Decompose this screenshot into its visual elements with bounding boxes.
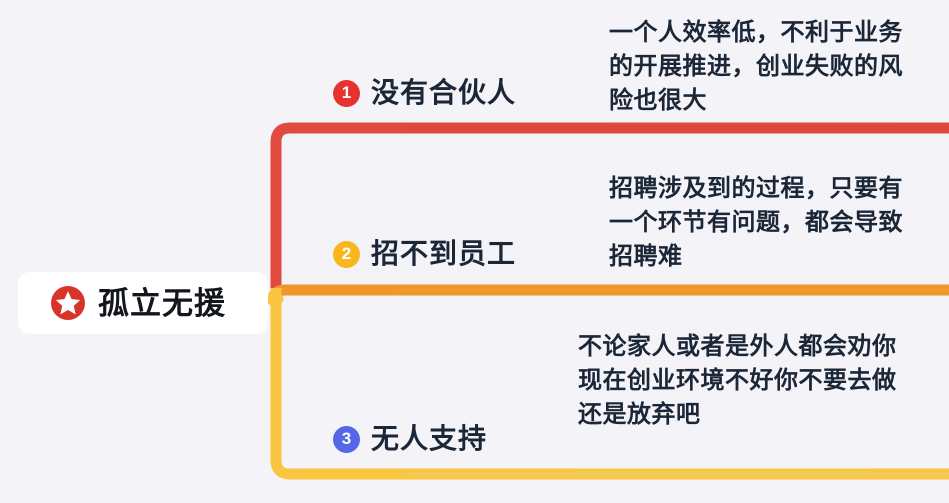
branch-title-3: 无人支持 (371, 425, 487, 453)
branch-title-1: 没有合伙人 (371, 79, 516, 107)
root-label: 孤立无援 (98, 288, 226, 319)
branch-title-2: 招不到员工 (371, 240, 516, 268)
leaf-rule-1 (607, 125, 895, 127)
branch-number-badge-2: 2 (333, 241, 360, 268)
branch-node-3[interactable]: 3 无人支持 (333, 425, 487, 453)
root-node[interactable]: 孤立无援 (18, 272, 268, 334)
leaf-rule-3 (576, 471, 871, 473)
mindmap-canvas: 孤立无援 1 没有合伙人 一个人效率低，不利于业务的开展推进，创业失败的风险也很… (0, 0, 949, 503)
leaf-text-3: 不论家人或者是外人都会劝你现在创业环境不好你不要去做还是放弃吧 (578, 330, 908, 432)
branch-number-badge-1: 1 (333, 80, 360, 107)
leaf-text-1: 一个人效率低，不利于业务的开展推进，创业失败的风险也很大 (609, 16, 909, 118)
leaf-text-2: 招聘涉及到的过程，只要有一个环节有问题，都会导致招聘难 (609, 172, 909, 274)
branch-number-badge-3: 3 (333, 426, 360, 453)
branch-node-1[interactable]: 1 没有合伙人 (333, 79, 516, 107)
leaf-rule-2 (607, 288, 897, 290)
star-circle-icon (50, 285, 86, 321)
branch-node-2[interactable]: 2 招不到员工 (333, 240, 516, 268)
